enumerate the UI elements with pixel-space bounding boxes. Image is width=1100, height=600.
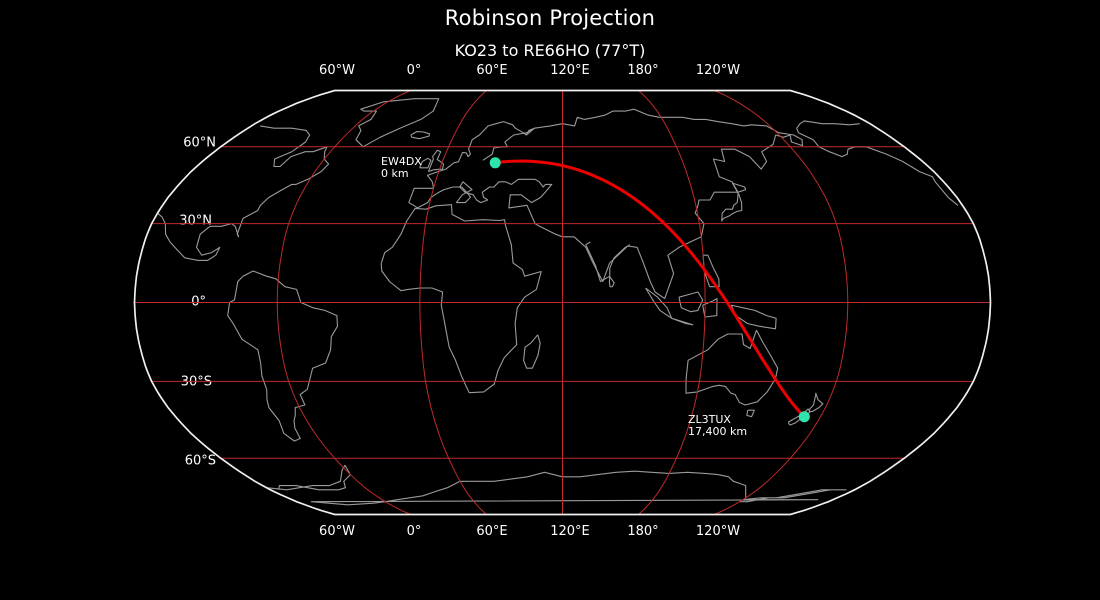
marker-label-1: ZL3TUX 17,400 km [688,414,747,438]
coastline [809,393,823,412]
marker-layer [490,157,810,422]
coastline [747,410,755,417]
great-circle-path [495,161,804,417]
map-figure: Robinson Projection KO23 to RE66HO (77°T… [0,0,1100,600]
coastline [411,132,430,139]
coastline [609,277,614,287]
coastline [381,205,541,393]
coastline [158,121,958,261]
coastline [483,109,803,160]
graticule-layer [135,91,991,515]
station-marker-0[interactable] [490,157,501,168]
coastline [524,335,541,368]
coastline [722,183,746,221]
coastline [409,135,790,299]
coastline [356,99,439,147]
map-body [135,91,991,515]
marker-label-0: EW4DX 0 km [381,156,422,180]
world-map [0,0,1100,600]
marker-distance-0: 0 km [381,168,422,180]
marker-distance-1: 17,400 km [688,426,747,438]
coastline [686,330,778,405]
station-marker-1[interactable] [799,411,810,422]
coastline [679,292,703,312]
coastline [267,465,847,501]
coastline [646,288,693,325]
